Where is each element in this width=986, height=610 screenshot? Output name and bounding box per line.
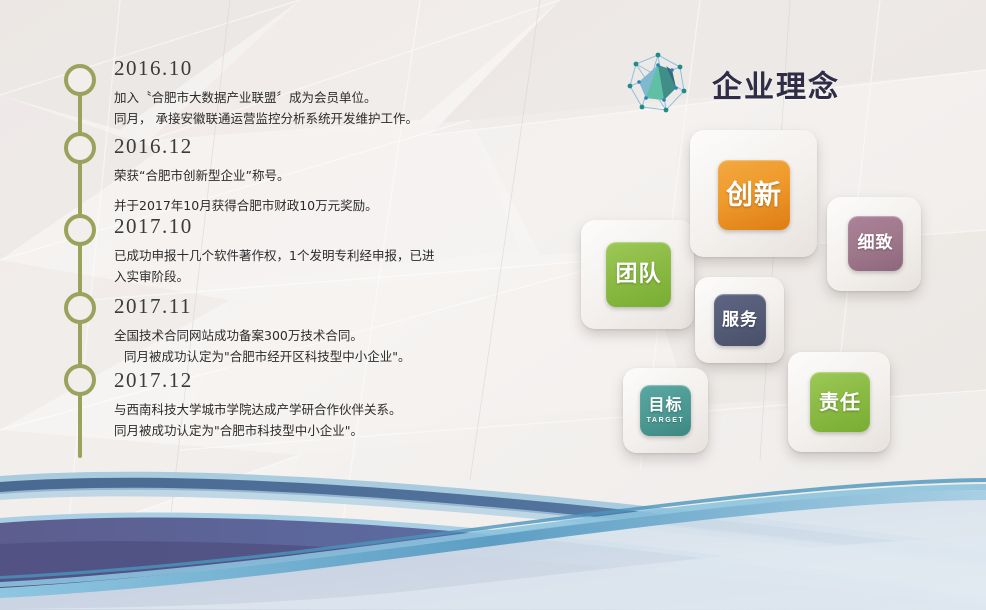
concept-tile-responsibility: 责任 [810, 372, 870, 432]
timeline-node-marker [64, 364, 96, 396]
concept-label-service: 服务 [722, 312, 758, 329]
timeline-item[interactable]: 2016.10 加入〝合肥市大数据产业联盟〞成为会员单位。 同月， 承接安徽联通… [62, 58, 482, 136]
timeline-year: 2017.12 [114, 370, 482, 391]
concept-label-meticulousness: 细致 [858, 235, 894, 252]
timeline-year: 2017.10 [114, 216, 482, 237]
concept-label-team: 团队 [615, 264, 661, 286]
concept-card-target[interactable]: 目标 TARGET [623, 368, 708, 453]
concept-card-meticulousness[interactable]: 细致 [827, 197, 921, 291]
concept-card-team[interactable]: 团队 [581, 220, 694, 329]
concept-tile-target: 目标 TARGET [640, 385, 691, 436]
timeline-detail-line: 加入〝合肥市大数据产业联盟〞成为会员单位。 [114, 88, 482, 109]
company-milestone-timeline: 2016.10 加入〝合肥市大数据产业联盟〞成为会员单位。 同月， 承接安徽联通… [62, 58, 482, 440]
timeline-node-marker [64, 64, 96, 96]
page-title: 企业理念 [712, 62, 840, 106]
timeline-node-marker [64, 214, 96, 246]
polyhedron-network-icon [622, 48, 694, 120]
timeline-detail-line: 全国技术合同网站成功备案300万技术合同。 [114, 326, 482, 347]
concept-tile-service: 服务 [714, 294, 766, 346]
concept-card-cluster: 团队 创新 细致 服务 目标 TARGET [575, 130, 975, 460]
timeline-detail-line: 与西南科技大学城市学院达成产学研合作伙伴关系。 [114, 400, 482, 421]
timeline-node-marker [64, 292, 96, 324]
concept-card-service[interactable]: 服务 [695, 277, 784, 363]
concept-label-target: 目标 [648, 397, 682, 413]
decorative-wave-ribbons [0, 440, 986, 610]
concept-sublabel-target: TARGET [647, 417, 685, 424]
brand-header: 企业理念 [622, 48, 840, 120]
timeline-node-marker [64, 132, 96, 164]
timeline-year: 2017.11 [114, 296, 482, 317]
concept-tile-team: 团队 [606, 242, 671, 307]
concept-card-responsibility[interactable]: 责任 [788, 352, 890, 452]
timeline-item[interactable]: 2016.12 荣获“合肥市创新型企业”称号。 并于2017年10月获得合肥市财… [62, 136, 482, 216]
timeline-year: 2016.10 [114, 58, 482, 79]
timeline-detail-line: 同月被成功认定为"合肥市科技型中小企业"。 [114, 421, 482, 442]
timeline-detail-line: 荣获“合肥市创新型企业”称号。 [114, 166, 482, 187]
timeline-item[interactable]: 2017.11 全国技术合同网站成功备案300万技术合同。 同月被成功认定为"合… [62, 296, 482, 370]
concept-label-responsibility: 责任 [819, 392, 861, 412]
timeline-year: 2016.12 [114, 136, 482, 157]
timeline-item[interactable]: 2017.12 与西南科技大学城市学院达成产学研合作伙伴关系。 同月被成功认定为… [62, 370, 482, 440]
concept-label-innovation: 创新 [726, 182, 782, 209]
timeline-detail-line: 同月被成功认定为"合肥市经开区科技型中小企业"。 [114, 347, 482, 368]
concept-tile-meticulousness: 细致 [848, 216, 903, 271]
timeline-item[interactable]: 2017.10 已成功申报十几个软件著作权，1个发明专利经申报，已进入实审阶段。 [62, 216, 482, 296]
timeline-detail-line: 已成功申报十几个软件著作权，1个发明专利经申报，已进入实审阶段。 [114, 246, 444, 287]
concept-card-innovation[interactable]: 创新 [690, 130, 817, 257]
timeline-detail-line: 同月， 承接安徽联通运营监控分析系统开发维护工作。 [114, 109, 482, 130]
slide-canvas: 2016.10 加入〝合肥市大数据产业联盟〞成为会员单位。 同月， 承接安徽联通… [0, 0, 986, 610]
concept-tile-innovation: 创新 [718, 160, 790, 230]
